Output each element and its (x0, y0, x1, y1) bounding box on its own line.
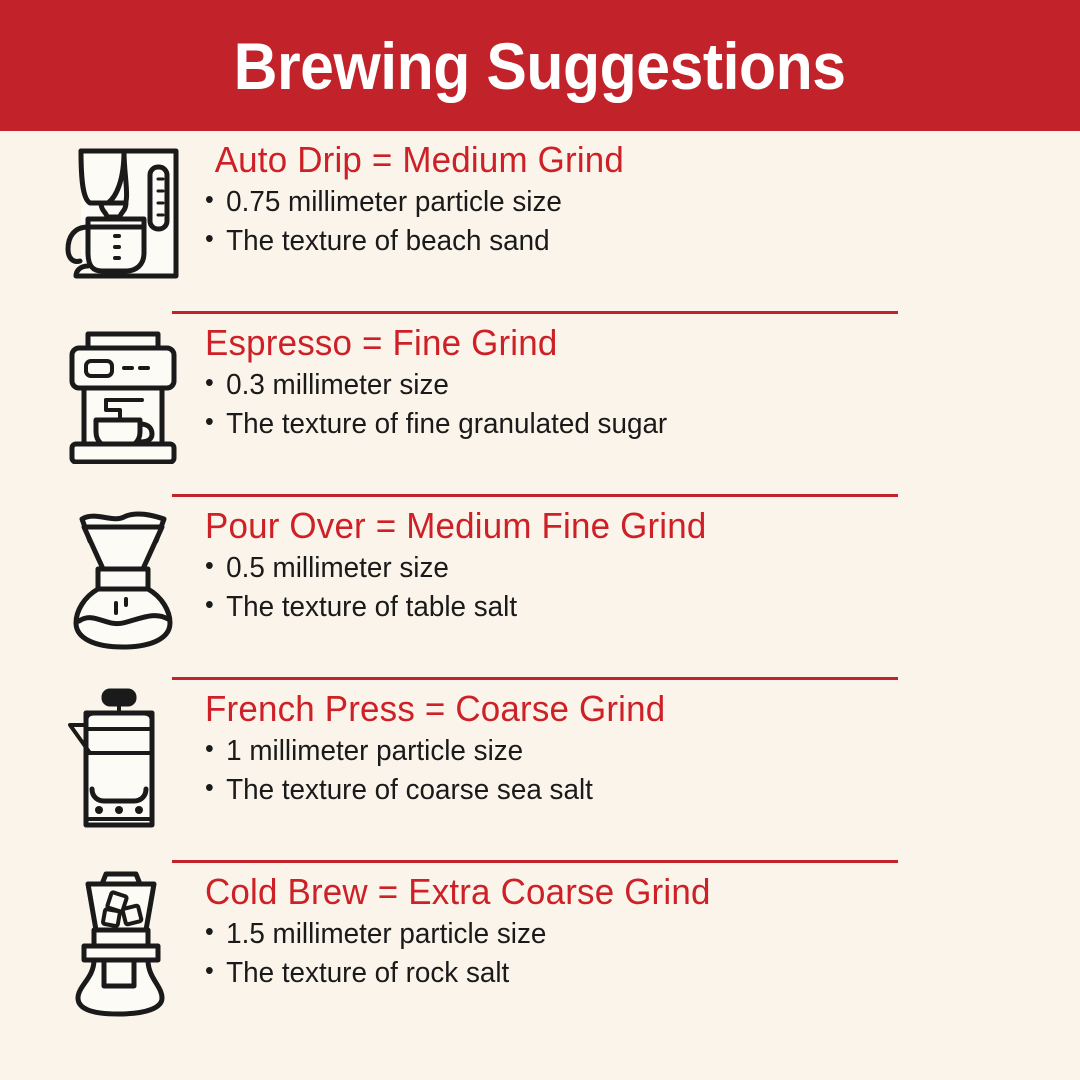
auto-drip-coffee-maker-icon (0, 131, 205, 291)
bullet-item: 0.75 millimeter particle size (205, 183, 1045, 221)
cold-brew-text: Cold Brew = Extra Coarse Grind 1.5 milli… (205, 863, 1080, 992)
method-bullets: 0.5 millimeter size The texture of table… (205, 549, 1080, 626)
method-title: Pour Over = Medium Fine Grind (205, 505, 1054, 547)
method-bullets: 1 millimeter particle size The texture o… (205, 732, 1080, 809)
cold-brew-tower-icon (0, 863, 205, 1023)
bullet-item: 1 millimeter particle size (205, 732, 1045, 770)
brewing-method-cold-brew[interactable]: Cold Brew = Extra Coarse Grind 1.5 milli… (0, 863, 1080, 1043)
method-title: French Press = Coarse Grind (205, 688, 1054, 730)
header-banner: Brewing Suggestions (0, 0, 1080, 131)
method-bullets: 1.5 millimeter particle size The texture… (205, 915, 1080, 992)
french-press-text: French Press = Coarse Grind 1 millimeter… (205, 680, 1080, 809)
brewing-method-list: Auto Drip = Medium Grind 0.75 millimeter… (0, 131, 1080, 1043)
method-bullets: 0.3 millimeter size The texture of fine … (205, 366, 1080, 443)
french-press-icon (0, 680, 205, 840)
espresso-text: Espresso = Fine Grind 0.3 millimeter siz… (205, 314, 1080, 443)
brewing-method-espresso[interactable]: Espresso = Fine Grind 0.3 millimeter siz… (0, 314, 1080, 494)
infographic-page: Brewing Suggestions (0, 0, 1080, 1080)
auto-drip-text: Auto Drip = Medium Grind 0.75 millimeter… (205, 131, 1080, 260)
method-title: Cold Brew = Extra Coarse Grind (205, 871, 1054, 913)
bullet-item: The texture of coarse sea salt (205, 771, 1045, 809)
method-bullets: 0.75 millimeter particle size The textur… (205, 183, 1080, 260)
bullet-item: 0.5 millimeter size (205, 549, 1045, 587)
bullet-item: The texture of table salt (205, 588, 1045, 626)
page-title: Brewing Suggestions (234, 33, 846, 99)
bullet-item: The texture of beach sand (205, 222, 1045, 260)
brewing-method-french-press[interactable]: French Press = Coarse Grind 1 millimeter… (0, 680, 1080, 860)
bullet-item: The texture of fine granulated sugar (205, 405, 1045, 443)
method-title: Auto Drip = Medium Grind (205, 139, 1054, 181)
bullet-item: 1.5 millimeter particle size (205, 915, 1045, 953)
espresso-machine-icon (0, 314, 205, 474)
bullet-item: 0.3 millimeter size (205, 366, 1045, 404)
brewing-method-auto-drip[interactable]: Auto Drip = Medium Grind 0.75 millimeter… (0, 131, 1080, 311)
brewing-method-pour-over[interactable]: Pour Over = Medium Fine Grind 0.5 millim… (0, 497, 1080, 677)
bullet-item: The texture of rock salt (205, 954, 1045, 992)
pour-over-brewer-icon (0, 497, 205, 657)
method-title: Espresso = Fine Grind (205, 322, 1054, 364)
pour-over-text: Pour Over = Medium Fine Grind 0.5 millim… (205, 497, 1080, 626)
